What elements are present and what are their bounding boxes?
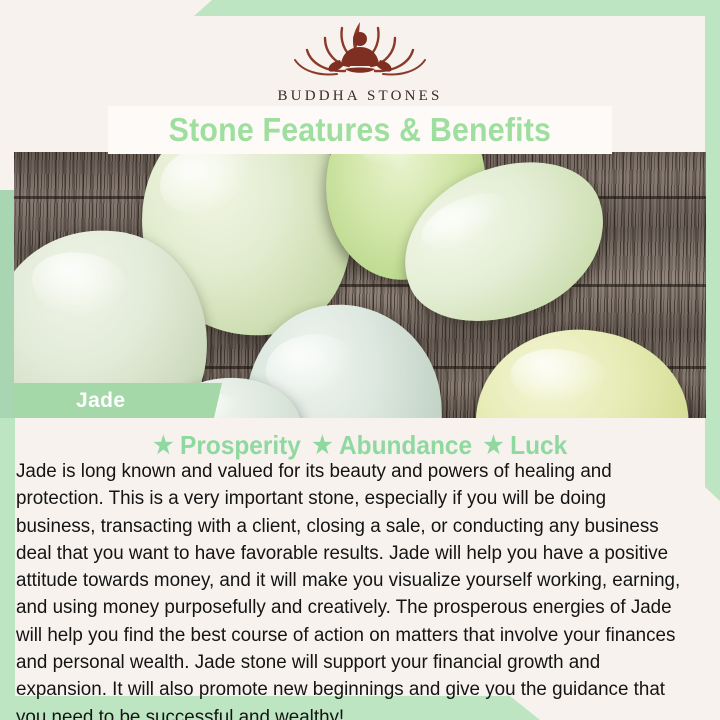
- stone-name-label: Jade: [76, 389, 125, 413]
- benefit-label: Prosperity: [180, 430, 301, 461]
- lotus-meditation-icon: [285, 14, 435, 86]
- star-icon: ★: [483, 434, 503, 458]
- benefit-label: Luck: [510, 430, 567, 461]
- benefit-item-abundance: ★ Abundance: [312, 430, 472, 461]
- title-banner: Stone Features & Benefits: [108, 106, 612, 154]
- page-title: Stone Features & Benefits: [169, 111, 552, 149]
- benefit-label: Abundance: [339, 430, 472, 461]
- star-icon: ★: [312, 434, 332, 458]
- star-icon: ★: [153, 434, 173, 458]
- benefit-item-luck: ★ Luck: [483, 430, 567, 461]
- stone-photo: [14, 152, 706, 418]
- jade-stone: [467, 319, 697, 418]
- stone-name-tag: Jade: [14, 383, 222, 418]
- brand-name: BUDDHA STONES: [0, 88, 720, 105]
- stone-info-card: BUDDHA STONES Stone Features & Benefits …: [0, 0, 720, 720]
- stone-description: Jade is long known and valued for its be…: [16, 458, 685, 720]
- benefits-row: ★ Prosperity ★ Abundance ★ Luck: [0, 430, 720, 461]
- brand-logo: BUDDHA STONES: [0, 14, 720, 105]
- benefit-item-prosperity: ★ Prosperity: [153, 430, 301, 461]
